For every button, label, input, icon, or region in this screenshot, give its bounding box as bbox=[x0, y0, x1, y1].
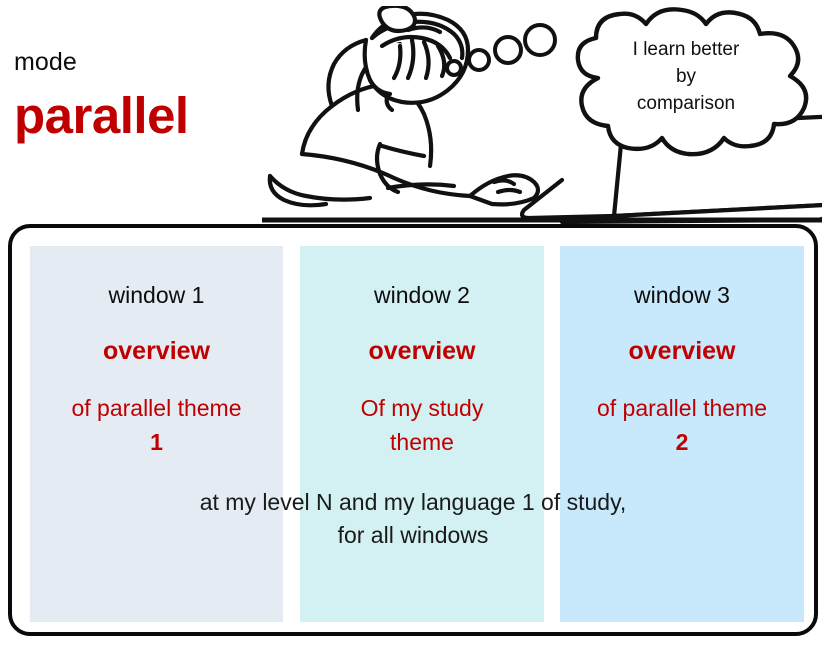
window-panel-3[interactable]: window 3 overview of parallel theme 2 bbox=[560, 246, 804, 622]
window-panel-1[interactable]: window 1 overview of parallel theme 1 bbox=[30, 246, 283, 622]
window-panel-2-subtext: Of my study theme bbox=[300, 391, 544, 459]
header-area: mode parallel bbox=[0, 0, 828, 224]
window-panel-1-subtext-label: of parallel theme bbox=[71, 395, 241, 421]
window-panel-3-subtext-number: 2 bbox=[676, 429, 689, 455]
window-panel-3-subtext-label: of parallel theme bbox=[597, 395, 767, 421]
windows-container: window 1 overview of parallel theme 1 wi… bbox=[8, 224, 818, 636]
page-title: parallel bbox=[14, 86, 189, 145]
window-panel-1-subtext: of parallel theme 1 bbox=[30, 391, 283, 459]
window-panel-2-subtext-label: Of my study bbox=[361, 395, 484, 421]
window-panel-1-title: window 1 bbox=[30, 282, 283, 309]
window-panel-2-title: window 2 bbox=[300, 282, 544, 309]
window-panel-3-title: window 3 bbox=[560, 282, 804, 309]
window-panel-3-subtext: of parallel theme 2 bbox=[560, 391, 804, 459]
window-panel-2-overview: overview bbox=[300, 337, 544, 366]
thought-bubble-icon bbox=[558, 4, 826, 168]
window-panel-3-overview: overview bbox=[560, 337, 804, 366]
mode-label: mode bbox=[14, 48, 77, 77]
window-panel-2[interactable]: window 2 overview Of my study theme bbox=[300, 246, 544, 622]
thought-trail-circles-icon bbox=[444, 18, 574, 78]
window-panel-1-subtext-number: 1 bbox=[150, 429, 163, 455]
window-panel-1-overview: overview bbox=[30, 337, 283, 366]
window-panel-2-subtext-number: theme bbox=[390, 429, 454, 455]
